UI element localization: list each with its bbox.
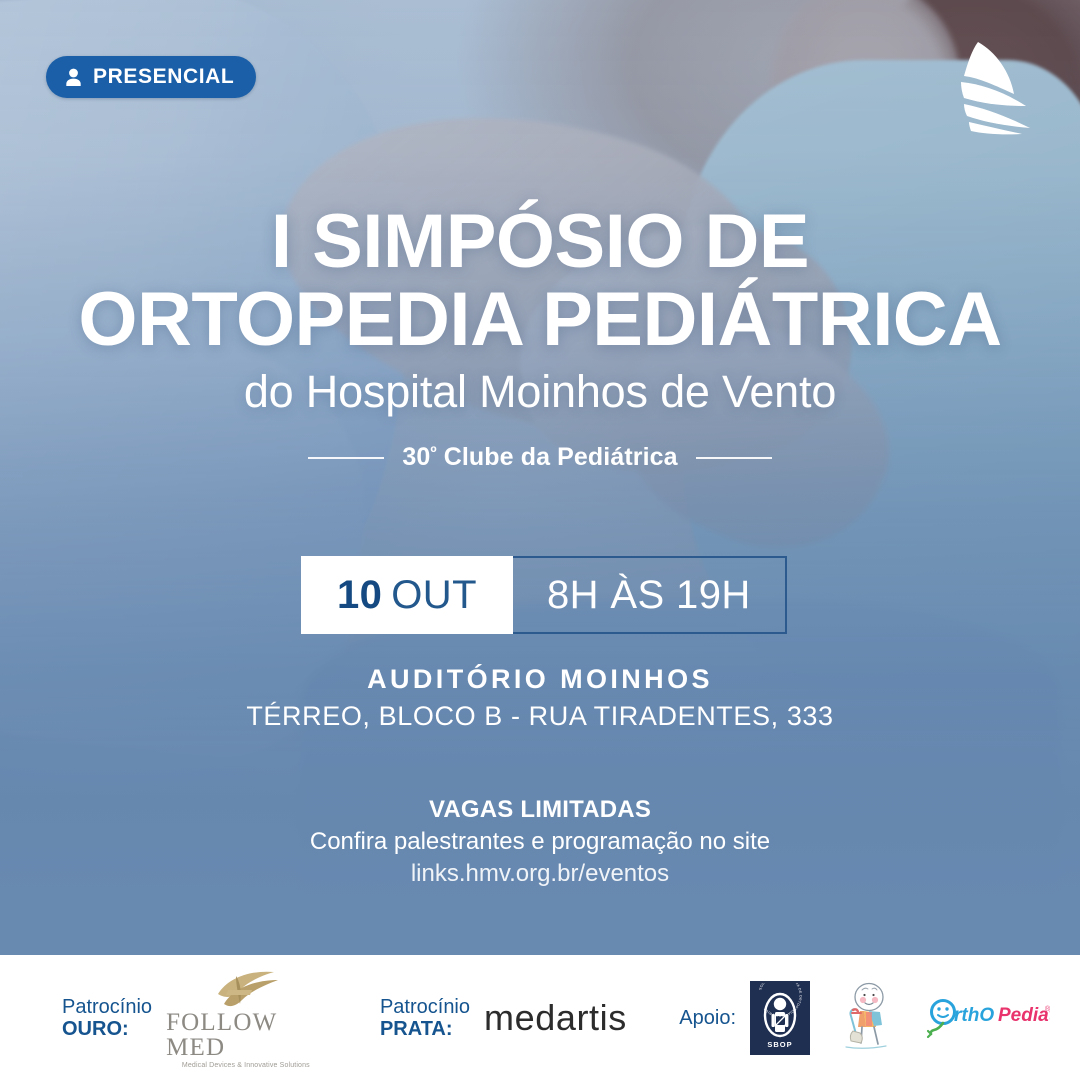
- person-icon: [65, 68, 82, 87]
- date-day: 10: [337, 573, 382, 618]
- gold-label-line-1: Patrocínio: [62, 996, 152, 1018]
- support-group: Apoio:: [679, 981, 1050, 1055]
- event-url[interactable]: links.hmv.org.br/eventos: [0, 860, 1080, 888]
- club-rule-left: [308, 457, 384, 459]
- date-box: 10 OUT: [301, 556, 513, 634]
- club-number: 30: [402, 443, 430, 471]
- club-text: Clube da Pediátrica: [437, 443, 678, 471]
- followmed-mark-icon: [198, 968, 294, 1008]
- limited-seats-text: VAGAS LIMITADAS: [0, 796, 1080, 824]
- svg-text:Pediatrics: Pediatrics: [998, 1005, 1050, 1026]
- followmed-logo[interactable]: FOLLOW MED Medical Devices & Innovative …: [166, 968, 326, 1069]
- svg-text:®: ®: [1045, 1005, 1050, 1013]
- club-edition-label: 30º Clube da Pediátrica: [402, 443, 677, 472]
- time-box: 8H ÀS 19H: [513, 556, 787, 634]
- child-crutch-logo[interactable]: [836, 981, 900, 1055]
- club-edition-row: 30º Clube da Pediátrica: [0, 443, 1080, 472]
- gold-sponsor-label: Patrocínio OURO:: [62, 996, 152, 1041]
- event-poster: PRESENCIAL I SIMPÓSIO DE ORTOPEDIA PEDIÁ…: [0, 0, 1080, 1081]
- venue-address: TÉRREO, BLOCO B - RUA TIRADENTES, 333: [0, 701, 1080, 732]
- followmed-wordmark: FOLLOW MED: [166, 1010, 326, 1060]
- presencial-badge: PRESENCIAL: [46, 56, 256, 98]
- title-line-2: ORTOPEDIA PEDIÁTRICA: [0, 283, 1080, 357]
- title-block: I SIMPÓSIO DE ORTOPEDIA PEDIÁTRICA do Ho…: [0, 205, 1080, 418]
- silver-label-line-1: Patrocínio: [380, 996, 470, 1018]
- venue-name: AUDITÓRIO MOINHOS: [0, 664, 1080, 695]
- orthopediatrics-logo[interactable]: rthO Pediatrics ®: [926, 995, 1050, 1041]
- svg-text:rthO: rthO: [954, 1005, 994, 1026]
- hmv-sail-logo: [934, 36, 1044, 136]
- silver-sponsor-label: Patrocínio PRATA:: [380, 996, 470, 1041]
- silver-sponsor-group: Patrocínio PRATA: medartis: [380, 996, 627, 1041]
- title-subtitle: do Hospital Moinhos de Vento: [0, 366, 1080, 418]
- title-line-1: I SIMPÓSIO DE: [0, 205, 1080, 279]
- presencial-badge-label: PRESENCIAL: [93, 65, 234, 89]
- date-month: OUT: [391, 573, 477, 618]
- datetime-bar: 10 OUT 8H ÀS 19H: [301, 556, 787, 634]
- svg-text:SBOP: SBOP: [767, 1040, 792, 1049]
- gold-sponsor-group: Patrocínio OURO: FOLLOW MED Medical Devi…: [62, 968, 326, 1069]
- check-program-text: Confira palestrantes e programação no si…: [0, 828, 1080, 856]
- support-logos: SBOP SOCIEDADE BRASILEIRA DE ORTOPEDIA P…: [750, 981, 1050, 1055]
- silver-label-line-2: PRATA:: [380, 1018, 470, 1040]
- support-label: Apoio:: [679, 1007, 736, 1029]
- venue-block: AUDITÓRIO MOINHOS TÉRREO, BLOCO B - RUA …: [0, 664, 1080, 732]
- gold-label-line-2: OURO:: [62, 1018, 152, 1040]
- poster-content: PRESENCIAL I SIMPÓSIO DE ORTOPEDIA PEDIÁ…: [0, 0, 1080, 1081]
- followmed-tagline: Medical Devices & Innovative Solutions: [182, 1062, 310, 1069]
- sponsor-footer: Patrocínio OURO: FOLLOW MED Medical Devi…: [0, 955, 1080, 1081]
- info-block: VAGAS LIMITADAS Confira palestrantes e p…: [0, 796, 1080, 888]
- sbop-logo[interactable]: SBOP SOCIEDADE BRASILEIRA DE ORTOPEDIA P…: [750, 981, 810, 1055]
- club-rule-right: [696, 457, 772, 459]
- medartis-logo[interactable]: medartis: [484, 997, 627, 1039]
